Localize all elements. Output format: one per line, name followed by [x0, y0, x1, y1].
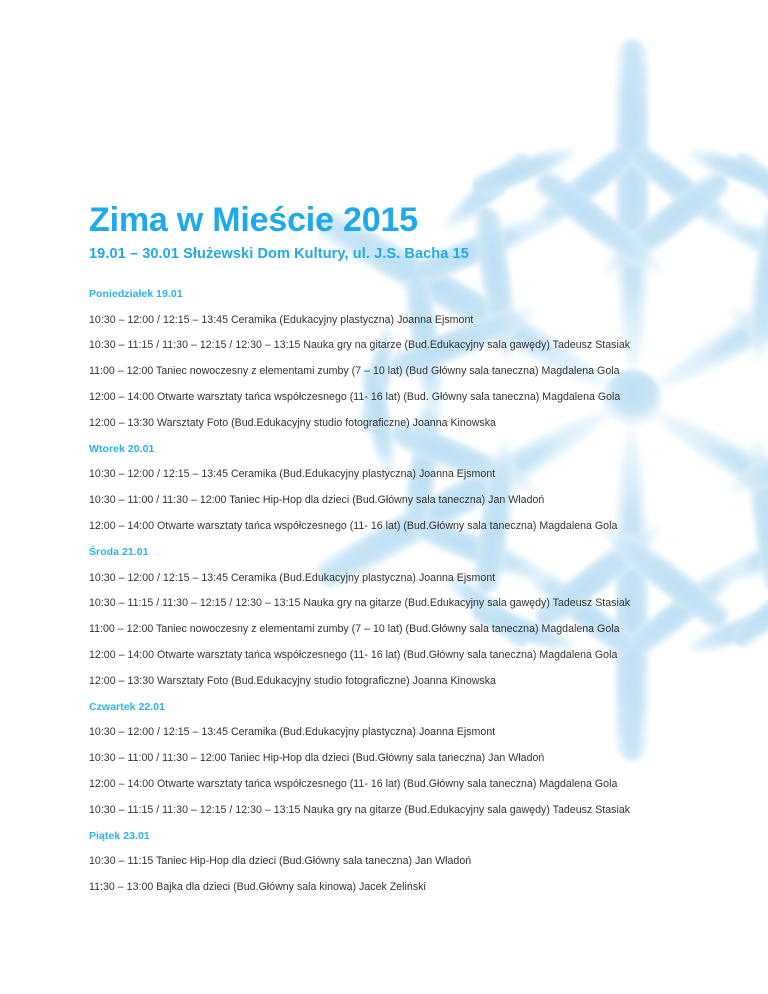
session-entry: 10:30 – 11:15 / 11:30 – 12:15 / 12:30 – … — [89, 339, 709, 352]
session-entry: 10:30 – 12:00 / 12:15 – 13:45 Ceramika (… — [89, 314, 709, 327]
session-entry: 12:00 – 14:00 Otwarte warsztaty tańca ws… — [89, 649, 709, 662]
session-entry: 10:30 – 11:15 / 11:30 – 12:15 / 12:30 – … — [89, 597, 709, 610]
day-heading: Poniedziałek 19.01 — [89, 288, 709, 301]
session-entry: 12:00 – 14:00 Otwarte warsztaty tańca ws… — [89, 778, 709, 791]
day-heading: Czwartek 22.01 — [89, 701, 709, 714]
day-block: Poniedziałek 19.0110:30 – 12:00 / 12:15 … — [89, 288, 709, 430]
page-title: Zima w Mieście 2015 — [89, 203, 418, 239]
day-block: Czwartek 22.0110:30 – 12:00 / 12:15 – 13… — [89, 701, 709, 817]
session-entry: 10:30 – 11:00 / 11:30 – 12:00 Taniec Hip… — [89, 494, 709, 507]
schedule-list: Poniedziałek 19.0110:30 – 12:00 / 12:15 … — [89, 288, 709, 907]
session-entry: 12:00 – 14:00 Otwarte warsztaty tańca ws… — [89, 520, 709, 533]
day-heading: Piątek 23.01 — [89, 830, 709, 843]
session-entry: 10:30 – 11:15 / 11:30 – 12:15 / 12:30 – … — [89, 804, 709, 817]
session-entry: 10:30 – 12:00 / 12:15 – 13:45 Ceramika (… — [89, 726, 709, 739]
session-entry: 11:00 – 12:00 Taniec nowoczesny z elemen… — [89, 365, 709, 378]
session-entry: 11:30 – 13:00 Bajka dla dzieci (Bud.Głów… — [89, 881, 709, 894]
page-subtitle-dates-and-venue: 19.01 – 30.01 Służewski Dom Kultury, ul.… — [89, 246, 469, 262]
session-entry: 10:30 – 12:00 / 12:15 – 13:45 Ceramika (… — [89, 468, 709, 481]
day-heading: Środa 21.01 — [89, 546, 709, 559]
session-entry: 11:00 – 12:00 Taniec nowoczesny z elemen… — [89, 623, 709, 636]
day-block: Piątek 23.0110:30 – 11:15 Taniec Hip-Hop… — [89, 830, 709, 895]
day-block: Wtorek 20.0110:30 – 12:00 / 12:15 – 13:4… — [89, 443, 709, 533]
session-entry: 12:00 – 13:30 Warsztaty Foto (Bud.Edukac… — [89, 675, 709, 688]
session-entry: 10:30 – 11:15 Taniec Hip-Hop dla dzieci … — [89, 855, 709, 868]
session-entry: 10:30 – 11:00 / 11:30 – 12:00 Taniec Hip… — [89, 752, 709, 765]
session-entry: 10:30 – 12:00 / 12:15 – 13:45 Ceramika (… — [89, 572, 709, 585]
session-entry: 12:00 – 14:00 Otwarte warsztaty tańca ws… — [89, 391, 709, 404]
day-heading: Wtorek 20.01 — [89, 443, 709, 456]
day-block: Środa 21.0110:30 – 12:00 / 12:15 – 13:45… — [89, 546, 709, 688]
session-entry: 12:00 – 13:30 Warsztaty Foto (Bud.Edukac… — [89, 417, 709, 430]
